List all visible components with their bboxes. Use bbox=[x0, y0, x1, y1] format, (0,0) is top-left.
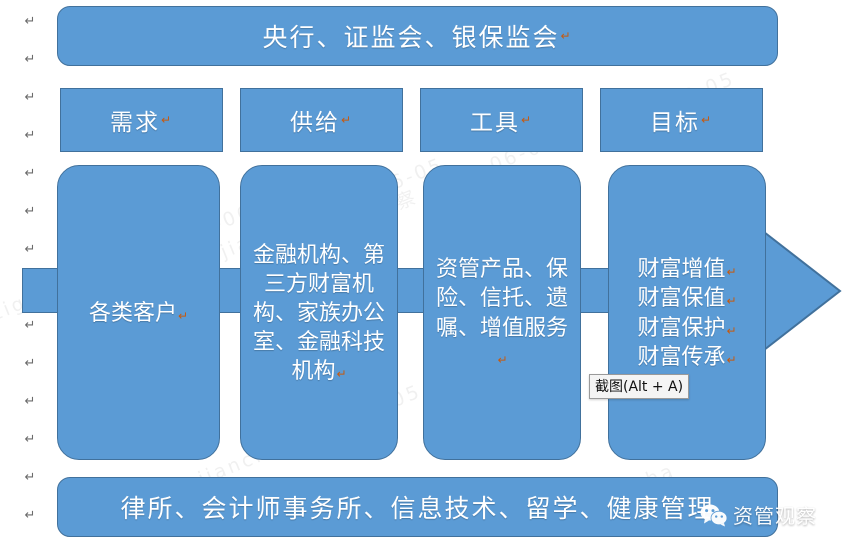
paragraph-mark-icon: ↵ bbox=[700, 113, 713, 127]
column-label: 财富保护 bbox=[637, 315, 725, 340]
paragraph-mark-icon: ↵ bbox=[725, 265, 736, 279]
column-label: 金融机构、第三方财富机构、家族办公室、金融科技机构 bbox=[253, 242, 385, 383]
wechat-icon bbox=[700, 503, 728, 527]
paragraph-mark-icon: ↵ bbox=[22, 14, 38, 30]
column-label: 财富保值 bbox=[637, 285, 725, 310]
paragraph-mark-icon: ↵ bbox=[160, 113, 173, 127]
paragraph-mark-icon: ↵ bbox=[22, 470, 38, 486]
paragraph-mark-icon: ↵ bbox=[22, 90, 38, 106]
paragraph-mark-icon: ↵ bbox=[22, 356, 38, 372]
paragraph-mark-icon: ↵ bbox=[496, 353, 507, 367]
column-box-providers[interactable]: 金融机构、第三方财富机构、家族办公室、金融科技机构↵ bbox=[240, 165, 398, 460]
word-document-page: ziguanjiancha 2023-06-05 zguanjiancha 20… bbox=[0, 0, 843, 550]
paragraph-mark-icon: ↵ bbox=[22, 166, 38, 182]
header-box-demand[interactable]: 需求↵ bbox=[60, 88, 223, 152]
header-label: 工具 bbox=[470, 103, 520, 137]
column-box-clients[interactable]: 各类客户↵ bbox=[57, 165, 220, 460]
right-arrow-icon bbox=[762, 230, 843, 352]
column-label: 各类客户 bbox=[89, 300, 177, 325]
paragraph-mark-icon: ↵ bbox=[22, 394, 38, 410]
top-banner[interactable]: 央行、证监会、银保监会↵ bbox=[57, 6, 778, 66]
paragraph-mark-icon: ↵ bbox=[725, 353, 736, 367]
paragraph-mark-icon: ↵ bbox=[725, 324, 736, 338]
paragraph-mark-icon: ↵ bbox=[520, 113, 533, 127]
paragraph-mark-icon: ↵ bbox=[725, 294, 736, 308]
screenshot-tooltip-label: 截图(Alt + A) bbox=[595, 379, 683, 395]
top-banner-label: 央行、证监会、银保监会 bbox=[262, 18, 559, 54]
column-label: 资管产品、保险、信托、遗嘱、增值服务 bbox=[436, 256, 568, 339]
paragraph-mark-icon: ↵ bbox=[22, 432, 38, 448]
paragraph-mark-icon: ↵ bbox=[177, 309, 188, 323]
wechat-watermark: 资管观察 bbox=[700, 500, 817, 529]
paragraph-mark-icon: ↵ bbox=[559, 29, 572, 43]
column-box-instruments[interactable]: 资管产品、保险、信托、遗嘱、增值服务↵ bbox=[423, 165, 581, 460]
header-label: 需求 bbox=[110, 103, 160, 137]
header-box-goals[interactable]: 目标↵ bbox=[600, 88, 763, 152]
column-label: 财富增值 bbox=[637, 256, 725, 281]
column-box-goals[interactable]: 财富增值↵财富保值↵财富保护↵财富传承↵ bbox=[608, 165, 766, 460]
wechat-watermark-label: 资管观察 bbox=[733, 500, 817, 529]
bottom-banner-label: 律所、会计师事务所、信息技术、留学、健康管理 bbox=[120, 489, 714, 525]
paragraph-mark-icon: ↵ bbox=[22, 204, 38, 220]
column-label: 财富传承 bbox=[637, 344, 725, 369]
paragraph-mark-icon: ↵ bbox=[22, 318, 38, 334]
header-label: 目标 bbox=[650, 103, 700, 137]
column-goals-lines: 财富增值↵财富保值↵财富保护↵财富传承↵ bbox=[609, 254, 765, 370]
paragraph-mark-icon: ↵ bbox=[22, 128, 38, 144]
column-goal-line: 财富增值↵ bbox=[617, 254, 757, 283]
paragraph-mark-icon: ↵ bbox=[22, 242, 38, 258]
bottom-banner[interactable]: 律所、会计师事务所、信息技术、留学、健康管理 bbox=[57, 477, 778, 537]
header-box-supply[interactable]: 供给↵ bbox=[240, 88, 403, 152]
column-goal-line: 财富保值↵ bbox=[617, 283, 757, 312]
header-label: 供给 bbox=[290, 103, 340, 137]
header-box-tools[interactable]: 工具↵ bbox=[420, 88, 583, 152]
paragraph-mark-icon: ↵ bbox=[340, 113, 353, 127]
screenshot-tooltip: 截图(Alt + A) bbox=[589, 374, 689, 399]
column-goal-line: 财富传承↵ bbox=[617, 342, 757, 371]
paragraph-mark-icon: ↵ bbox=[22, 52, 38, 68]
paragraph-mark-icon: ↵ bbox=[335, 367, 346, 381]
column-goal-line: 财富保护↵ bbox=[617, 313, 757, 342]
paragraph-mark-icon: ↵ bbox=[22, 508, 38, 524]
